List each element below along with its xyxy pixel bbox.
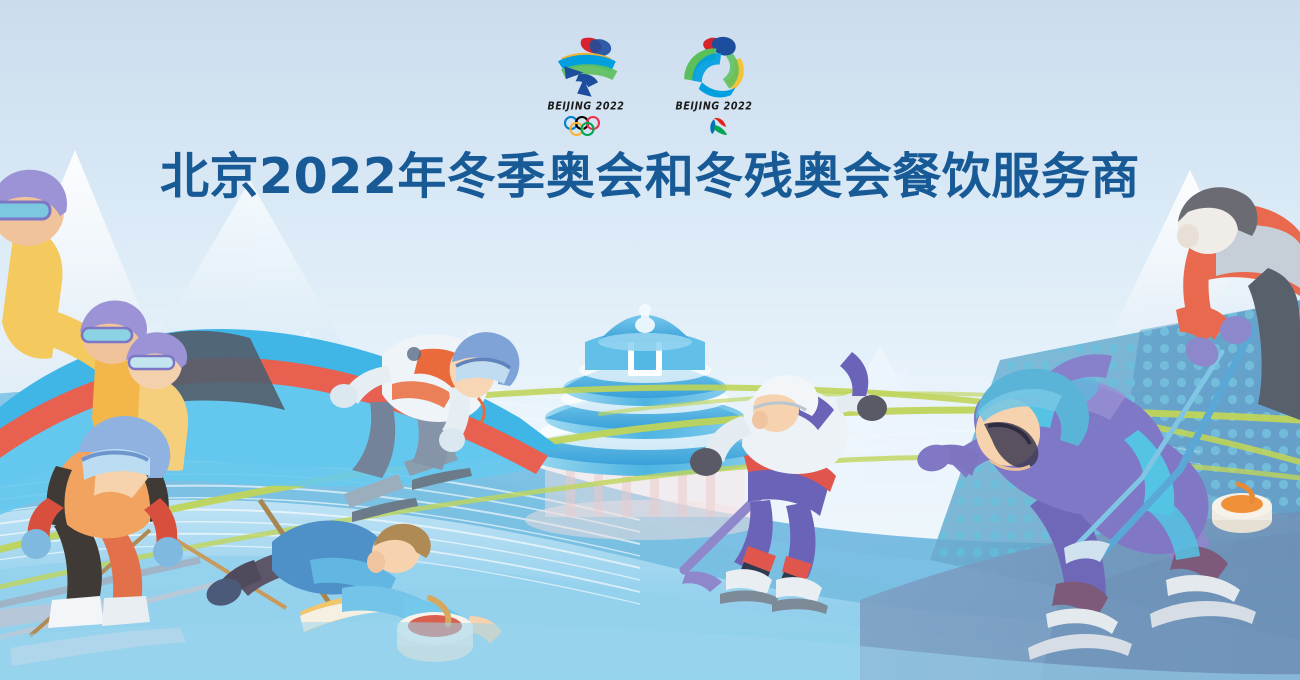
beijing-2022-paralympic-mark <box>669 34 759 100</box>
paralympic-emblem: BEIJING 2022 <box>666 34 762 137</box>
paralympic-wordmark: BEIJING 2022 <box>675 100 752 112</box>
olympic-rings-icon <box>561 115 611 137</box>
olympic-wordmark: BEIJING 2022 <box>547 100 624 112</box>
paralympic-agitos-icon <box>689 115 739 137</box>
olympic-emblem: BEIJING 2022 <box>538 34 634 137</box>
beijing-2022-banner: BEIJING 2022 B <box>0 0 1300 680</box>
page-title: 北京2022年冬季奥会和冬残奥会餐饮服务商 <box>0 146 1300 208</box>
emblem-row: BEIJING 2022 B <box>0 34 1300 137</box>
beijing-2022-olympic-mark <box>541 34 631 100</box>
